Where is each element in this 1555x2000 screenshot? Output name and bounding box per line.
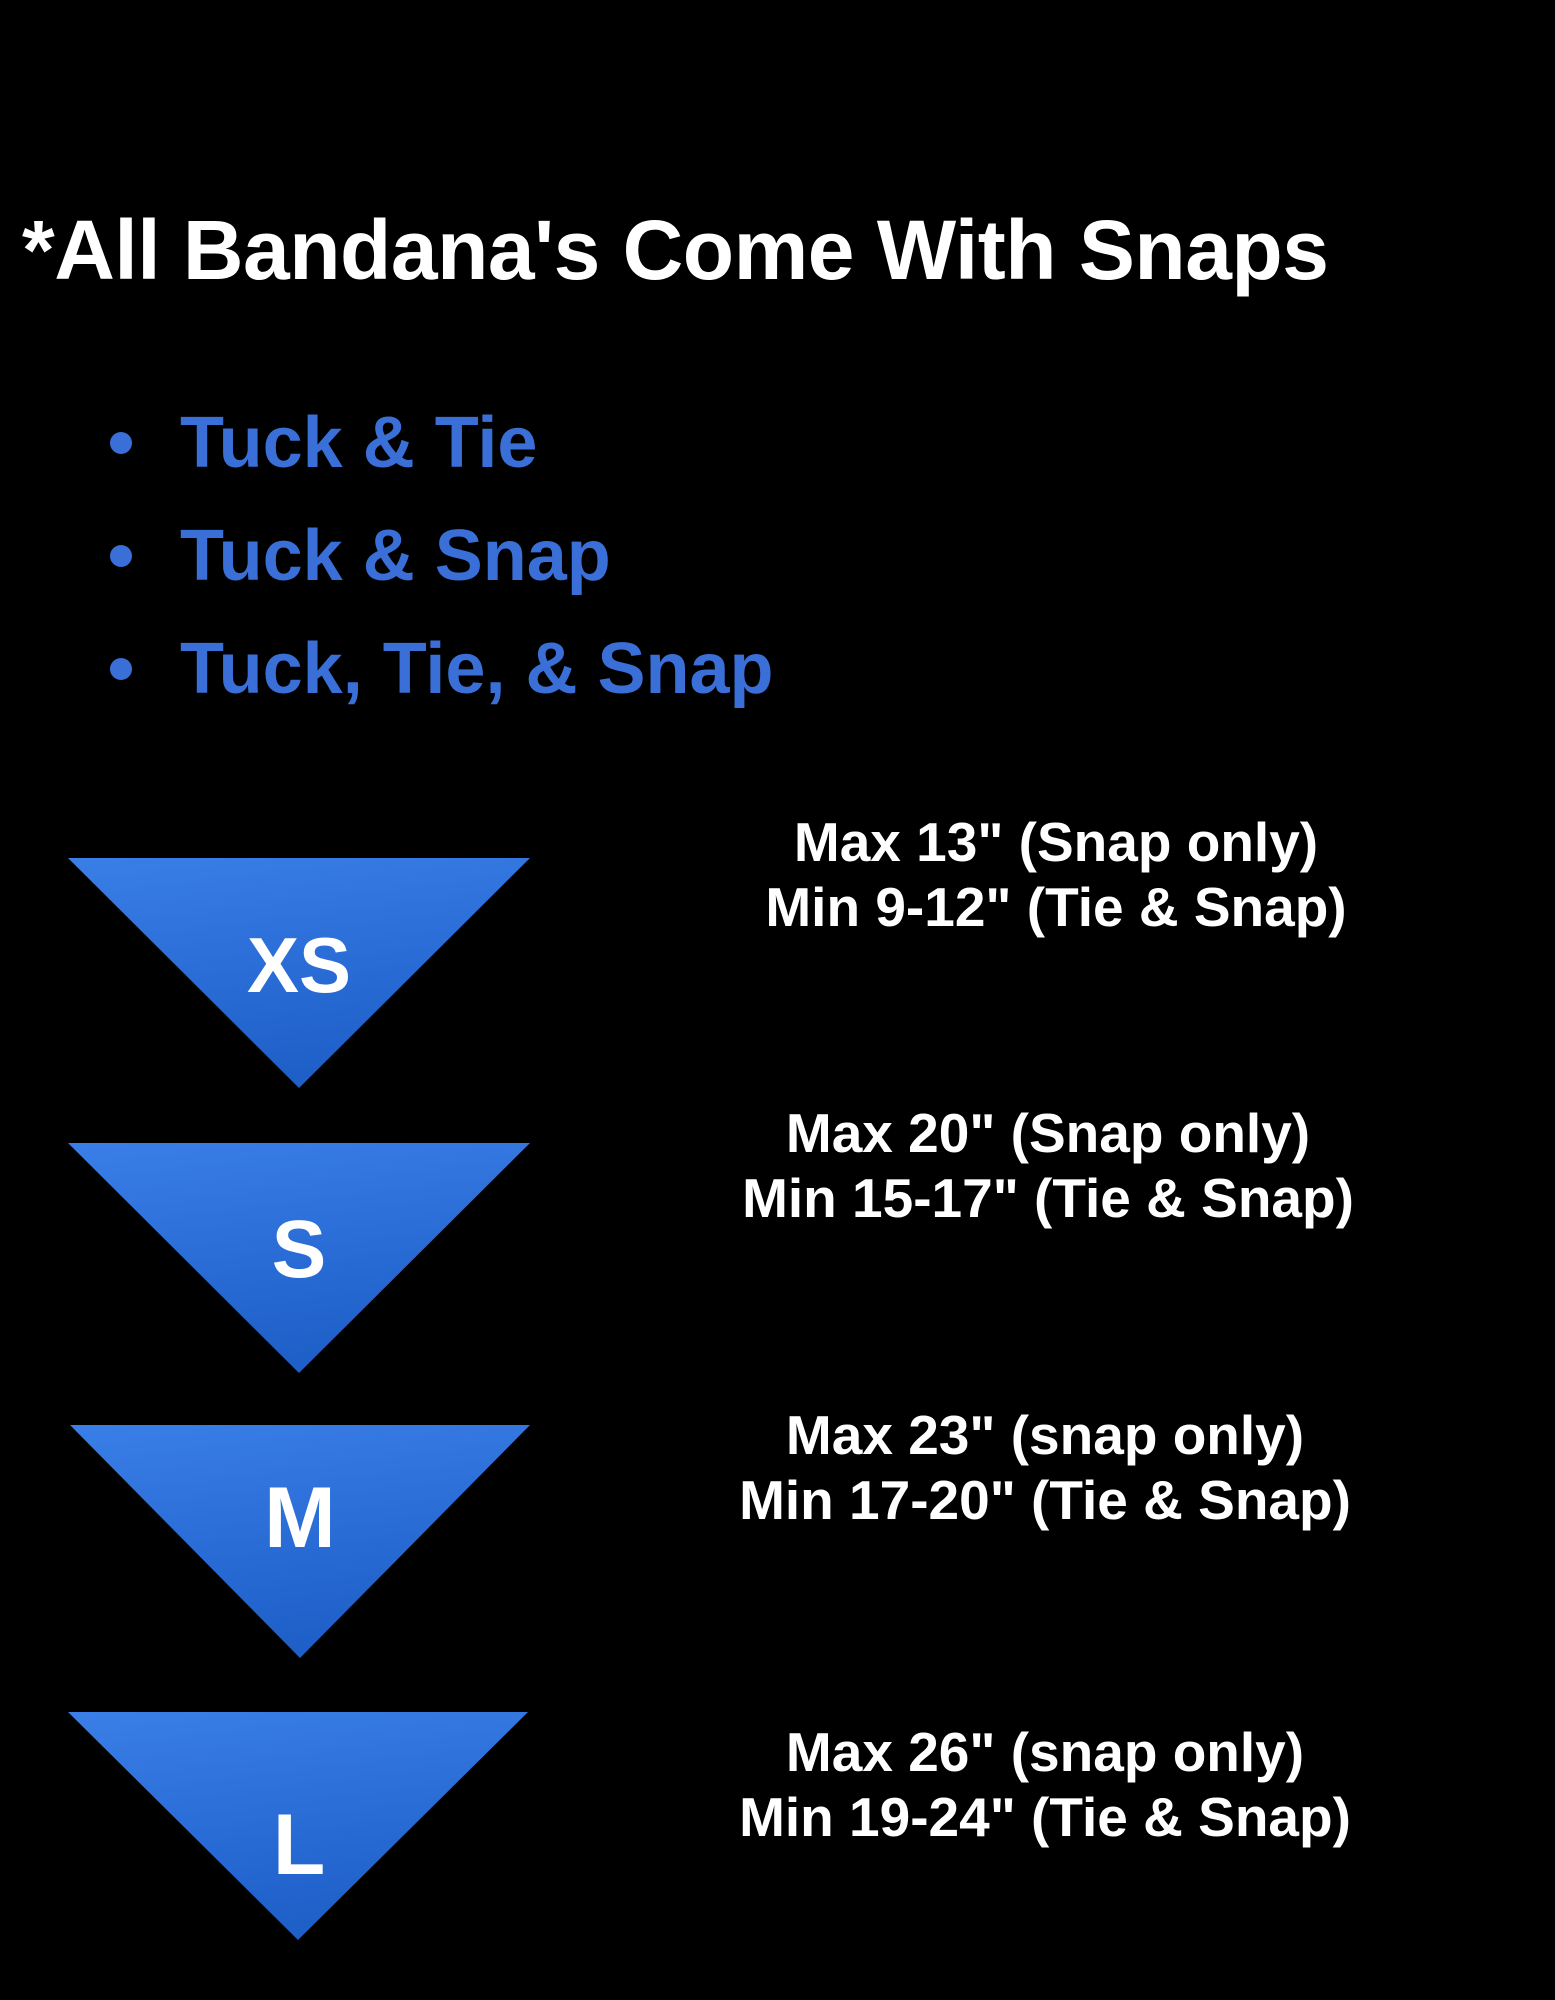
list-item: Tuck, Tie, & Snap: [110, 612, 1110, 725]
bandana-triangle-icon: [0, 1143, 560, 1383]
max-measurement: Max 13" (Snap only): [566, 810, 1546, 875]
max-measurement: Max 20" (Snap only): [548, 1101, 1548, 1166]
min-measurement: Min 17-20" (Tie & Snap): [540, 1468, 1550, 1533]
page-title: *All Bandana's Come With Snaps: [22, 208, 1542, 292]
min-measurement: Min 9-12" (Tie & Snap): [566, 875, 1546, 940]
list-item: Tuck & Snap: [110, 499, 1110, 612]
bandana-triangle-icon: [0, 858, 560, 1098]
wear-style-label: Tuck & Tie: [180, 407, 537, 479]
size-measurements-xs: Max 13" (Snap only) Min 9-12" (Tie & Sna…: [566, 810, 1546, 940]
bandana-triangle-icon: [0, 1712, 560, 1952]
size-row-m: M Max 23" (snap only) Min 17-20" (Tie & …: [0, 1425, 1555, 1660]
wear-style-label: Tuck & Snap: [180, 520, 611, 592]
bullet-dot-icon: [110, 658, 132, 680]
bullet-dot-icon: [110, 545, 132, 567]
size-row-l: L Max 26" (snap only) Min 19-24" (Tie & …: [0, 1712, 1555, 1944]
bandana-triangle-icon: [0, 1425, 560, 1665]
list-item: Tuck & Tie: [110, 386, 1110, 499]
size-row-s: S Max 20" (Snap only) Min 15-17" (Tie & …: [0, 1143, 1555, 1375]
size-row-xs: XS Max 13" (Snap only) Min 9-12" (Tie & …: [0, 858, 1555, 1090]
size-measurements-m: Max 23" (snap only) Min 17-20" (Tie & Sn…: [540, 1403, 1550, 1533]
wear-styles-list: Tuck & Tie Tuck & Snap Tuck, Tie, & Snap: [110, 386, 1110, 725]
max-measurement: Max 26" (snap only): [540, 1720, 1550, 1785]
size-measurements-l: Max 26" (snap only) Min 19-24" (Tie & Sn…: [540, 1720, 1550, 1850]
wear-style-label: Tuck, Tie, & Snap: [180, 633, 773, 705]
bullet-dot-icon: [110, 432, 132, 454]
size-chart-graphic: *All Bandana's Come With Snaps Tuck & Ti…: [0, 0, 1555, 2000]
min-measurement: Min 19-24" (Tie & Snap): [540, 1785, 1550, 1850]
max-measurement: Max 23" (snap only): [540, 1403, 1550, 1468]
min-measurement: Min 15-17" (Tie & Snap): [548, 1166, 1548, 1231]
size-measurements-s: Max 20" (Snap only) Min 15-17" (Tie & Sn…: [548, 1101, 1548, 1231]
